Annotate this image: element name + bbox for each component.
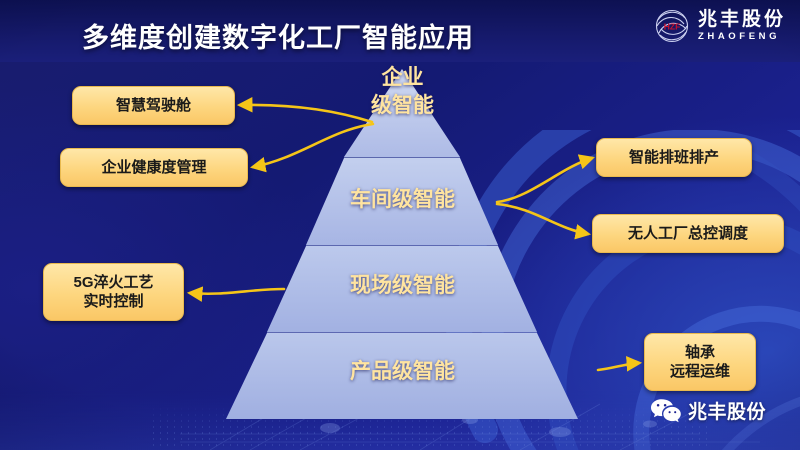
pyramid-tier-label-2: 车间级智能 — [300, 186, 505, 214]
callout-box-5g-quenching[interactable]: 5G淬火工艺 实时控制 — [43, 263, 184, 321]
pyramid-tier-label-1: 企业 级智能 — [330, 64, 475, 121]
pyramid-tier-label-4: 产品级智能 — [300, 358, 505, 386]
slide-canvas: 多维度创建数字化工厂智能应用 HZF 兆丰股份 ZHAOFENG — [0, 0, 800, 450]
callout-box-enterprise-health[interactable]: 企业健康度管理 — [60, 148, 248, 187]
wechat-label: 兆丰股份 — [688, 397, 766, 424]
pyramid-tier-label-3: 现场级智能 — [300, 272, 505, 300]
callout-box-smart-scheduling[interactable]: 智能排班排产 — [596, 138, 752, 177]
wechat-icon — [650, 398, 682, 424]
callout-box-bearing-remote-ops[interactable]: 轴承 远程运维 — [644, 333, 756, 391]
wechat-account: 兆丰股份 — [650, 397, 766, 424]
callout-box-unmanned-factory[interactable]: 无人工厂总控调度 — [592, 214, 784, 253]
callout-box-smart-cockpit[interactable]: 智慧驾驶舱 — [72, 86, 235, 125]
